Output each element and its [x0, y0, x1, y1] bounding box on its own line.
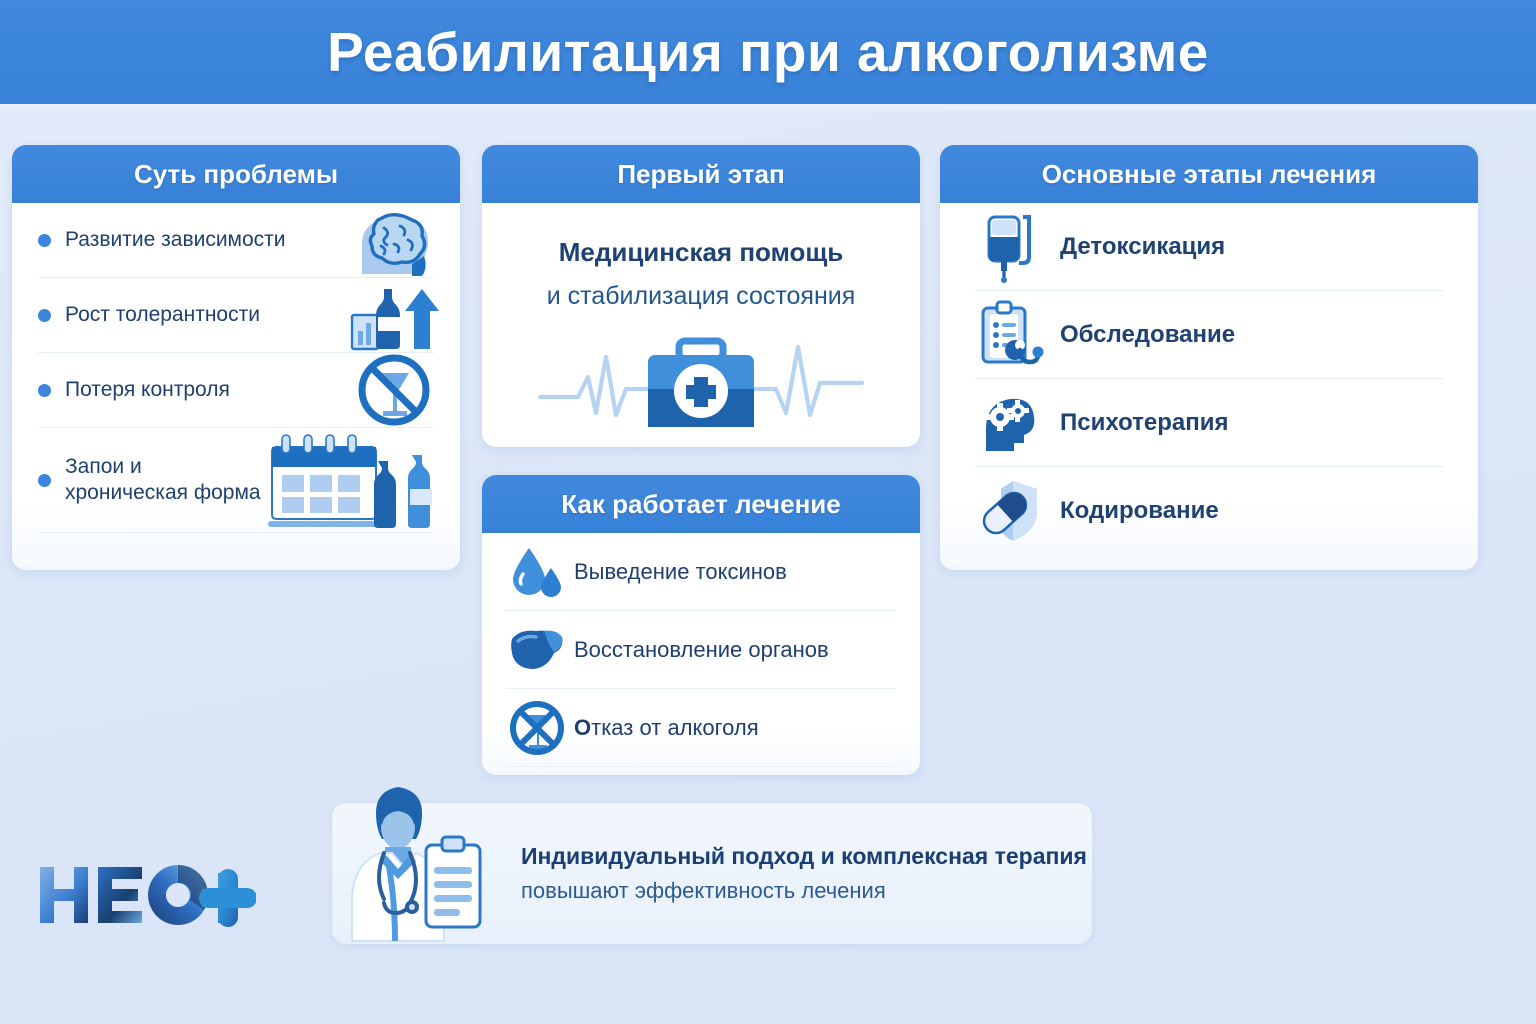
- card-problem-title: Суть проблемы: [134, 159, 338, 190]
- card-problem-header: Суть проблемы: [12, 145, 460, 203]
- doctor-clipboard-icon: [340, 783, 515, 943]
- page-title: Реабилитация при алкоголизме: [327, 20, 1209, 84]
- problem-item-control[interactable]: Потеря контроля: [38, 353, 434, 428]
- stage-item-psychotherapy[interactable]: Психотерапия: [974, 379, 1444, 467]
- card-main-stages-title: Основные этапы лечения: [1042, 159, 1377, 190]
- water-drop-icon: [506, 543, 568, 601]
- card-problem-essence: Суть проблемы Развитие зависимости: [12, 145, 460, 570]
- pill-shield-icon: [974, 475, 1046, 547]
- card-how-treatment-title: Как работает лечение: [561, 489, 840, 520]
- card-how-treatment-works: Как работает лечение Выведение токсинов: [482, 475, 920, 775]
- stage-item-label: Детоксикация: [1060, 233, 1225, 261]
- how-item-alcohol-refusal[interactable]: Отказ от алкоголя: [506, 689, 896, 767]
- no-alcohol-glass-icon: [348, 351, 440, 429]
- bottom-banner-line2: повышают эффективность лечения: [521, 878, 1087, 904]
- problem-item-label: Запои и хроническая форма: [65, 454, 261, 505]
- bullet-icon: [38, 309, 51, 322]
- problem-item-label: Развитие зависимости: [65, 227, 286, 253]
- stage-item-label: Кодирование: [1060, 497, 1219, 525]
- problem-item-tolerance[interactable]: Рост толерантности: [38, 278, 434, 353]
- card-main-stages-body: Детоксикация Обследование: [940, 203, 1478, 570]
- bullet-icon: [38, 384, 51, 397]
- how-item-organ-recovery[interactable]: Восстановление органов: [506, 611, 896, 689]
- how-item-label: Восстановление органов: [574, 637, 829, 663]
- first-stage-line1: Медицинская помощь: [482, 237, 920, 268]
- neo-plus-logo[interactable]: [36, 855, 256, 935]
- how-item-label-rest: тказ от алкоголя: [591, 715, 759, 740]
- page-header-banner: Реабилитация при алкоголизме: [0, 0, 1536, 104]
- how-item-label-cap: О: [574, 715, 591, 740]
- brain-head-icon: [348, 201, 440, 279]
- card-first-stage-body: Медицинская помощь и стабилизация состоя…: [482, 237, 920, 447]
- how-item-label: Выведение токсинов: [574, 559, 787, 585]
- stage-item-coding[interactable]: Кодирование: [974, 467, 1444, 555]
- head-gears-icon: [974, 387, 1046, 459]
- bottom-banner-line1: Индивидуальный подход и комплексная тера…: [521, 843, 1087, 870]
- first-stage-line2: и стабилизация состояния: [482, 282, 920, 311]
- how-item-label: Отказ от алкоголя: [574, 715, 759, 741]
- problem-item-label-line1: Запои и: [65, 455, 142, 478]
- banner-underline: [0, 104, 1536, 111]
- card-main-stages-header: Основные этапы лечения: [940, 145, 1478, 203]
- how-item-detox-toxins[interactable]: Выведение токсинов: [506, 533, 896, 611]
- problem-item-label-line2: хроническая форма: [65, 481, 261, 504]
- bullet-icon: [38, 234, 51, 247]
- problem-item-label: Потеря контроля: [65, 377, 230, 403]
- liver-icon: [506, 621, 568, 679]
- stage-item-label: Психотерапия: [1060, 409, 1229, 437]
- bottom-banner-text: Индивидуальный подход и комплексная тера…: [521, 843, 1087, 904]
- problem-item-dependency[interactable]: Развитие зависимости: [38, 203, 434, 278]
- bullet-icon: [38, 474, 51, 487]
- first-aid-kit-ecg-icon: [482, 327, 920, 437]
- card-main-treatment-stages: Основные этапы лечения Детоксикация: [940, 145, 1478, 570]
- problem-item-binge[interactable]: Запои и хроническая форма: [38, 428, 434, 533]
- problem-item-label: Рост толерантности: [65, 302, 260, 328]
- card-first-stage-header: Первый этап: [482, 145, 920, 203]
- stage-item-detoxification[interactable]: Детоксикация: [974, 203, 1444, 291]
- bottle-up-arrow-icon: [348, 276, 440, 354]
- clipboard-stethoscope-icon: [974, 299, 1046, 371]
- iv-drip-icon: [974, 211, 1046, 283]
- card-first-stage: Первый этап Медицинская помощь и стабили…: [482, 145, 920, 447]
- calendar-bottles-icon: [258, 430, 448, 530]
- stage-item-examination[interactable]: Обследование: [974, 291, 1444, 379]
- no-alcohol-ban-icon: [506, 699, 568, 757]
- bottom-highlight-banner: Индивидуальный подход и комплексная тера…: [332, 803, 1092, 944]
- card-first-stage-title: Первый этап: [617, 159, 784, 190]
- card-problem-body: Развитие зависимости Рост толерантности: [12, 203, 460, 570]
- card-how-treatment-header: Как работает лечение: [482, 475, 920, 533]
- stage-item-label: Обследование: [1060, 321, 1235, 349]
- card-how-treatment-body: Выведение токсинов Восстановление органо…: [482, 533, 920, 775]
